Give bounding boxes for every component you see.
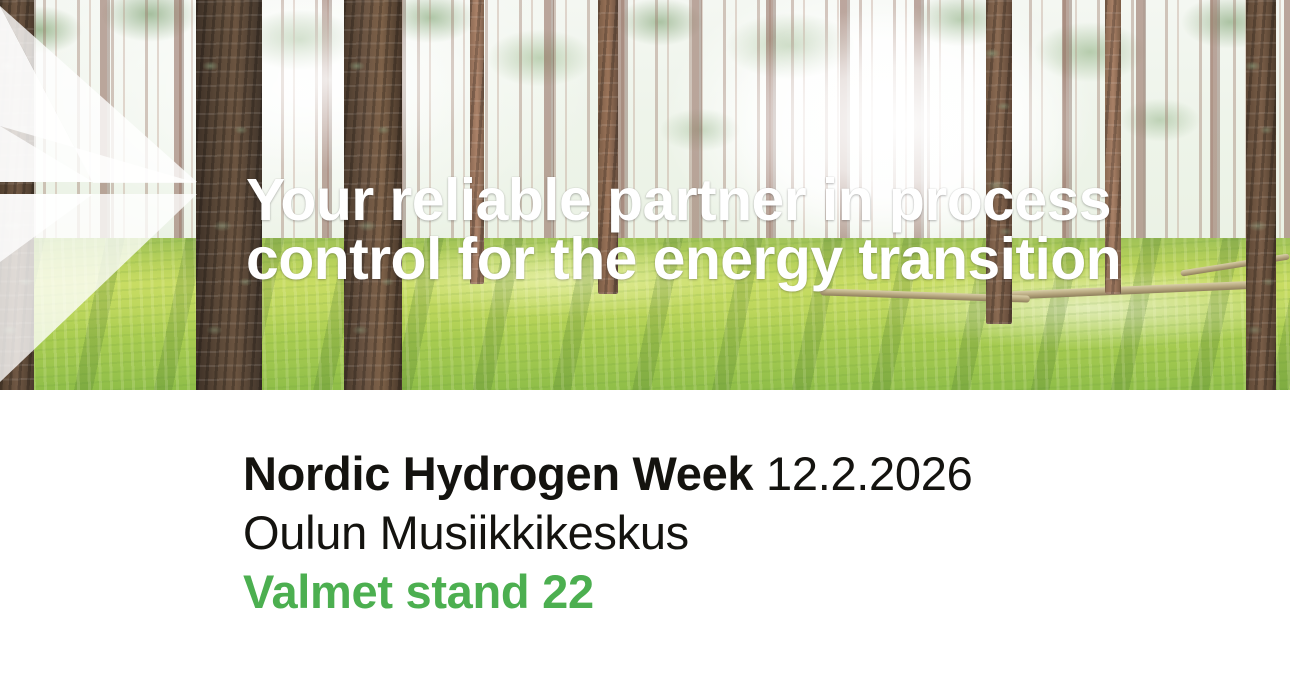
event-date: 12.2.2026 (766, 447, 972, 500)
event-venue: Oulun Musiikkikeskus (243, 503, 1243, 562)
hero-forest-photo: Your reliable partner in process control… (0, 0, 1290, 390)
hero-headline: Your reliable partner in process control… (246, 171, 1166, 289)
event-stand: Valmet stand 22 (243, 562, 1243, 621)
event-title-line: Nordic Hydrogen Week 12.2.2026 (243, 444, 1243, 503)
promo-banner: Your reliable partner in process control… (0, 0, 1290, 675)
headline-line-1: Your reliable partner in process (246, 171, 1166, 230)
event-name: Nordic Hydrogen Week (243, 447, 753, 500)
foreground-tree-trunk (1246, 0, 1276, 390)
foreground-tree-trunk (0, 0, 34, 390)
headline-line-2: control for the energy transition (246, 230, 1166, 289)
event-info-block: Nordic Hydrogen Week 12.2.2026 Oulun Mus… (243, 444, 1243, 621)
